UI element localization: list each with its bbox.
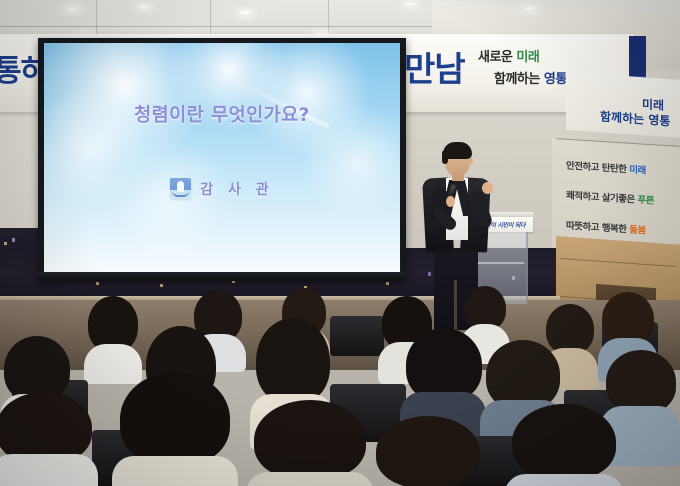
audience-person: [504, 404, 624, 486]
speaker-leg-gap: [454, 280, 457, 330]
slide-title: 청렴이란 무엇인가요?: [44, 101, 400, 127]
ceiling-seam: [0, 26, 440, 27]
slide-subtitle: 감 사 관: [200, 179, 273, 199]
ceiling-downlight: [135, 4, 153, 10]
audience-hair: [406, 328, 482, 402]
ceiling-downlight: [62, 6, 82, 13]
audience-body: [112, 456, 238, 486]
audience-body: [246, 472, 374, 486]
ceiling-seam: [210, 0, 211, 34]
audience-body: [504, 474, 624, 486]
speaker-hair-side: [442, 150, 448, 164]
audience-person: [246, 400, 374, 486]
speaker-hand-right: [482, 182, 493, 194]
ceiling-downlight: [402, 2, 418, 7]
audience-person: [84, 296, 142, 378]
audience-person: [0, 392, 98, 486]
photo-scene: 통하 만남 새로운 미래 함께하는 영통 미래 함께하는 영통 안전하고 탄탄한…: [0, 0, 680, 486]
audience-hair: [120, 372, 230, 466]
banner-line-1-plain: 새로운: [478, 50, 516, 65]
audience-hair: [376, 416, 480, 486]
banner-line-2-plain: 함께하는: [494, 72, 544, 87]
slogan-highlight: 미래: [629, 164, 645, 176]
banner-line-2-highlight: 영통: [544, 72, 567, 87]
slide-subtitle-row: 감 사 관: [44, 178, 400, 199]
banner-headline: 만남: [404, 42, 465, 91]
audience-hair: [254, 400, 366, 480]
ceiling-seam: [96, 0, 97, 38]
slogan-highlight: 푸른: [638, 195, 654, 207]
audience-hair: [512, 404, 616, 480]
audience-person: [368, 416, 488, 486]
projection-screen-bottom-bar: [38, 272, 406, 281]
speaker-hand-left: [446, 196, 455, 207]
banner-line-1-highlight: 미래: [516, 50, 539, 65]
ceiling-downlight: [520, 6, 538, 12]
audit-office-logo-icon: [170, 178, 191, 199]
chair-back: [330, 316, 384, 356]
banner-line-2: 함께하는 영통: [494, 68, 567, 87]
projection-screen: 청렴이란 무엇인가요? 감 사 관: [44, 43, 400, 272]
slogan-highlight: 돌봄: [629, 224, 645, 236]
ceiling-downlight: [236, 10, 254, 16]
audience-body: [0, 454, 98, 486]
audience-person: [112, 372, 238, 486]
audience-hair: [256, 318, 330, 404]
banner-line-1: 새로운 미래: [478, 46, 539, 65]
ceiling-seam: [328, 0, 329, 32]
